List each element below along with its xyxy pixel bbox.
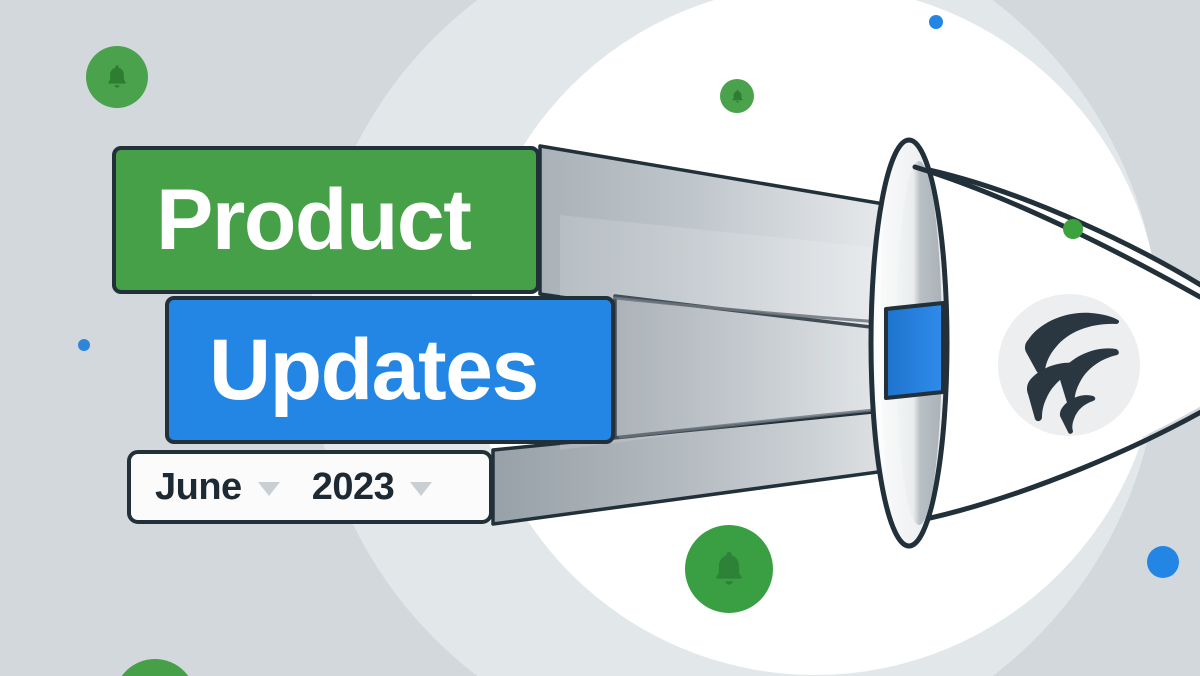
updates-title-card: Updates [165, 296, 615, 444]
date-selector-row: June 2023 [155, 468, 489, 506]
product-title-card: Product [112, 146, 540, 294]
date-selector-card[interactable]: June 2023 [127, 450, 493, 524]
bell-badge-top-left [86, 46, 148, 108]
title-line-updates: Updates [209, 327, 538, 413]
megaphone-blue-plate [886, 303, 943, 398]
decorative-dot-green-on-wire [1063, 219, 1083, 239]
title-line-product: Product [156, 177, 470, 263]
chevron-down-icon-month[interactable] [258, 482, 280, 496]
year-value[interactable]: 2023 [312, 468, 395, 506]
decorative-dot-blue-large [1147, 546, 1179, 578]
bell-badge-top-center [720, 79, 754, 113]
decorative-dot-blue-small [929, 15, 943, 29]
bell-badge-bottom-center [685, 525, 773, 613]
decorative-dot-blue-tiny [78, 339, 90, 351]
product-updates-banner: Product Updates June 2023 [0, 0, 1200, 676]
bell-icon [102, 62, 132, 92]
month-value[interactable]: June [155, 468, 242, 506]
bell-icon [707, 547, 751, 591]
chevron-down-icon-year[interactable] [410, 482, 432, 496]
bell-icon [729, 88, 746, 105]
